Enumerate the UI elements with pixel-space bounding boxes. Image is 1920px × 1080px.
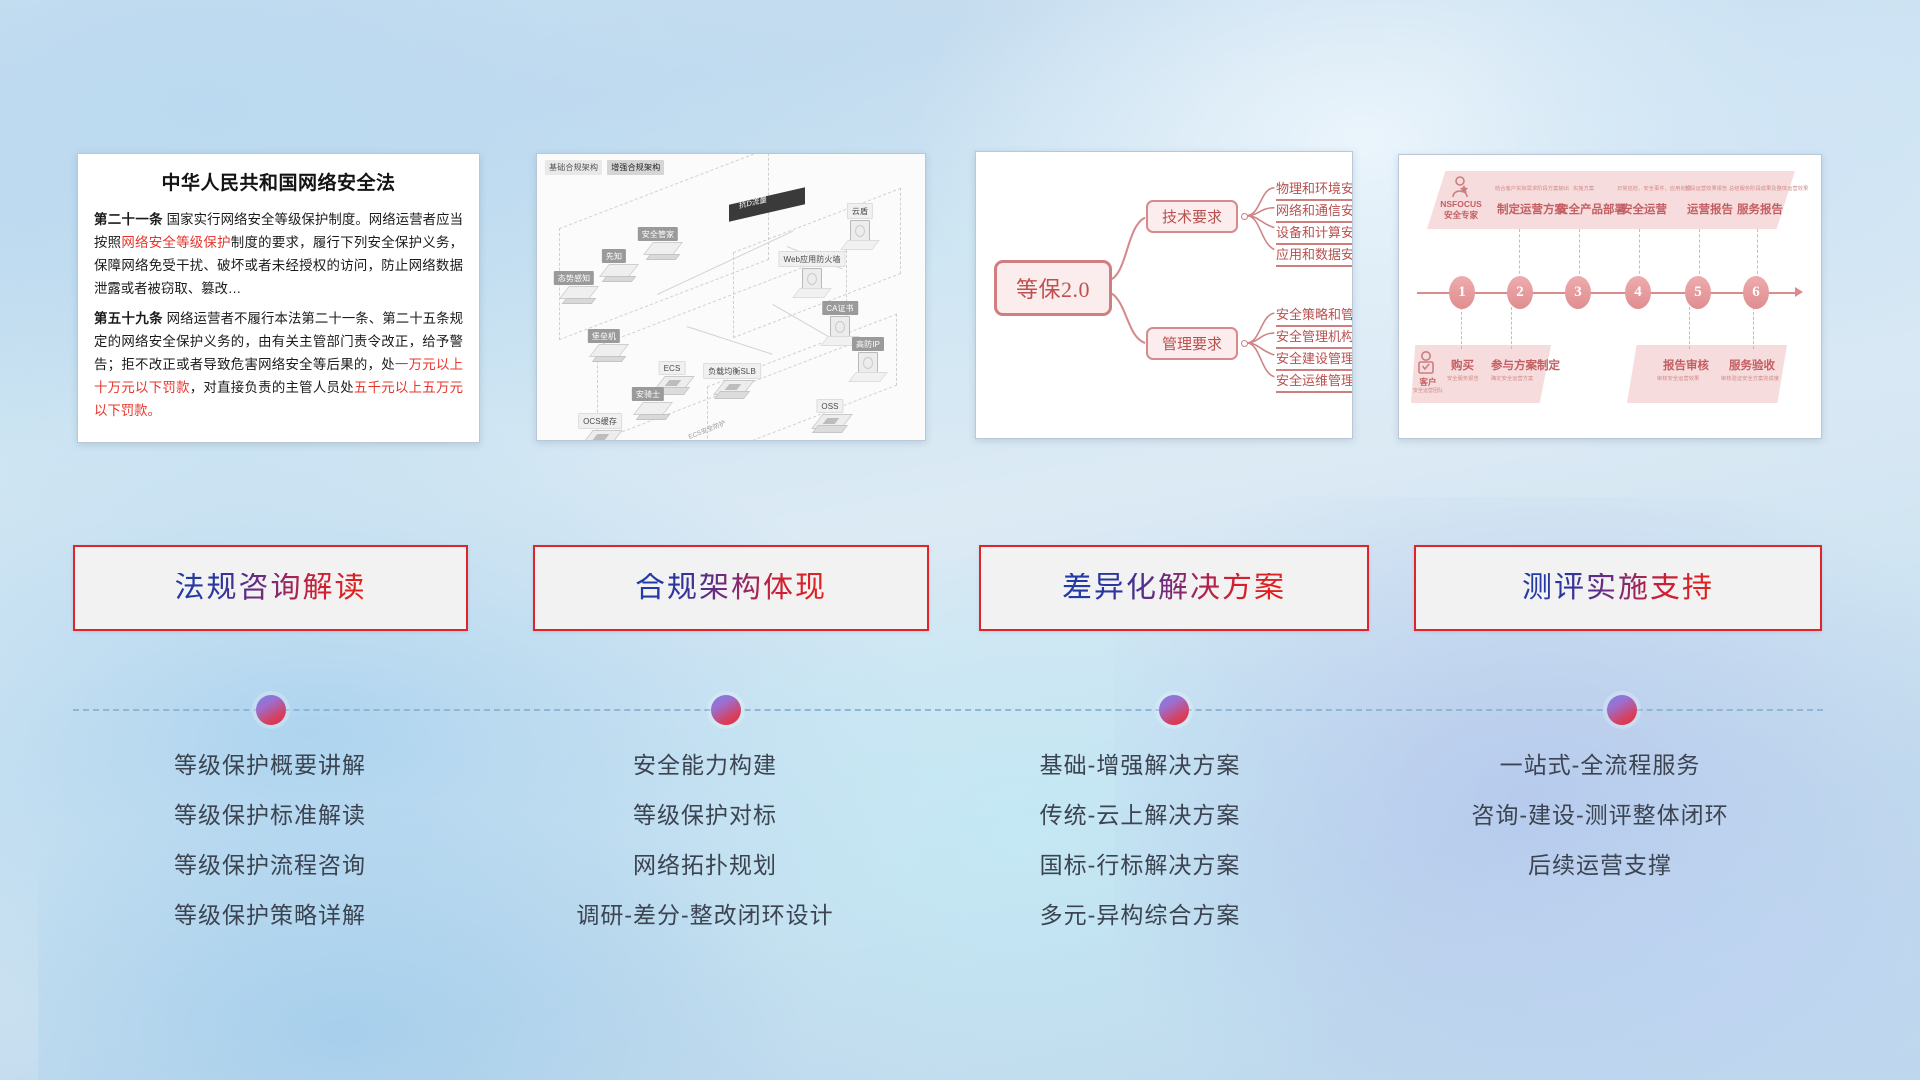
architecture-node-anti-ddos-ip: 高防IP [855, 352, 881, 382]
mindmap-leaf-application: 应用和数据安全 [1276, 244, 1353, 267]
mindmap-root-node: 等保2.0 [994, 260, 1112, 316]
section-title-box-0[interactable]: 法规咨询解读 [73, 545, 468, 631]
timeline-dash-b6 [1753, 307, 1754, 349]
progress-node-1[interactable] [711, 695, 741, 725]
timeline-step-participate-sub: 确定安全运营方案 [1491, 375, 1533, 382]
architecture-node-oss-label: OSS [816, 399, 843, 413]
architecture-node-antiddos: 抗D流量 [729, 196, 805, 213]
timeline-card: NSFOCUS 安全专家 结合客户实际需求阶段方案输出 制定运营方案 实施方案 … [1398, 154, 1822, 439]
architecture-node-cloud-shield-label: 云盾 [847, 203, 873, 219]
timeline-step-participate-title: 参与方案制定 [1491, 357, 1560, 373]
timeline-step-acceptance-title: 服务验收 [1729, 357, 1775, 373]
timeline-step-5-title: 运营报告 [1687, 201, 1733, 217]
architecture-node-ca-cert: CA证书 [827, 316, 853, 346]
mindmap-leaf-org: 安全管理机构和人员 [1276, 326, 1353, 349]
timeline-dash-b1 [1461, 307, 1462, 349]
architecture-node-anqishi-label: 安骑士 [632, 387, 664, 401]
mindmap-branch-management: 管理要求 [1146, 327, 1238, 360]
timeline-step-2-title: 制定运营方案 [1497, 201, 1566, 217]
list-item: 多元-异构综合方案 [925, 890, 1355, 940]
timeline-dash-5 [1699, 229, 1700, 279]
architecture-node-cloud-shield: 云盾 [847, 220, 873, 250]
timeline-step-3-title: 安全产品部署 [1557, 201, 1626, 217]
list-item: 后续运营支撑 [1370, 840, 1830, 890]
architecture-node-ca-cert-label: CA证书 [822, 301, 858, 315]
mindmap-branch-technical: 技术要求 [1146, 200, 1238, 233]
timeline-customer-line1: 客户 [1411, 377, 1445, 388]
progress-node-3[interactable] [1607, 695, 1637, 725]
architecture-node-security-butler: 安全管家 [643, 242, 673, 262]
list-item: 一站式-全流程服务 [1370, 740, 1830, 790]
timeline-step-6-sub: 总结服务阶段成果及整体运营效果 [1729, 185, 1808, 192]
mindmap-leaf-physical: 物理和环境安全 [1276, 178, 1353, 201]
architecture-node-oss: OSS [813, 414, 847, 438]
architecture-node-slb-label: 负载均衡SLB [703, 363, 761, 379]
section-items-0: 等级保护概要讲解 等级保护标准解读 等级保护流程咨询 等级保护策略详解 [55, 740, 485, 940]
architecture-node-bastion-host-label: 堡垒机 [588, 329, 620, 343]
timeline-customer-line2: 安全运营团队 [1411, 388, 1445, 394]
architecture-tab-enhanced[interactable]: 增强合规架构 [607, 160, 664, 175]
architecture-node-slb: 负载均衡SLB [715, 380, 749, 404]
timeline-customer: 客户 安全运营团队 [1411, 377, 1445, 394]
list-item: 安全能力构建 [490, 740, 920, 790]
architecture-tab-basic[interactable]: 基础合规架构 [545, 160, 602, 175]
timeline-brand-line2: 安全专家 [1433, 210, 1489, 221]
customer-person-icon [1417, 351, 1435, 375]
mindmap-leaf-policy: 安全策略和管理制度 [1276, 304, 1353, 327]
list-item: 国标-行标解决方案 [925, 840, 1355, 890]
architecture-node-anti-ddos-ip-label: 高防IP [852, 337, 884, 351]
timeline-step-3-sub: 实施方案 [1573, 185, 1594, 192]
progress-node-2[interactable] [1159, 695, 1189, 725]
list-item: 调研-差分-整改闭环设计 [490, 890, 920, 940]
law-article-21-run-1: 网络安全等级保护 [121, 235, 230, 250]
law-article-59-number: 第五十九条 [94, 311, 163, 326]
section-title-row: 法规咨询解读 合规架构体现 差异化解决方案 测评实施支持 [0, 545, 1920, 655]
list-item: 传统-云上解决方案 [925, 790, 1355, 840]
architecture-node-anqishi: 安骑士 [633, 402, 663, 422]
law-article-59: 第五十九条 网络运营者不履行本法第二十一条、第二十五条规定的网络安全保护义务的，… [94, 307, 463, 422]
section-title-0: 法规咨询解读 [175, 573, 367, 603]
law-card-title: 中华人民共和国网络安全法 [94, 168, 463, 195]
timeline-step-6-title: 服务报告 [1737, 201, 1783, 217]
list-item: 等级保护对标 [490, 790, 920, 840]
section-title-box-1[interactable]: 合规架构体现 [533, 545, 929, 631]
timeline-dash-3 [1579, 229, 1580, 279]
architecture-node-waf: Web应用防火墙 [799, 268, 825, 298]
section-title-2: 差异化解决方案 [1062, 573, 1286, 603]
timeline-brand: NSFOCUS 安全专家 [1433, 199, 1489, 220]
section-title-box-3[interactable]: 测评实施支持 [1414, 545, 1822, 631]
timeline-node-4[interactable]: 4 [1625, 276, 1651, 309]
law-article-21-number: 第二十一条 [94, 212, 163, 227]
architecture-node-bastion-host: 堡垒机 [589, 344, 619, 364]
timeline-step-acceptance-sub: 审核验证安全方案完成度 [1721, 375, 1779, 382]
illustration-card-row: 中华人民共和国网络安全法 第二十一条 国家实行网络安全等级保护制度。网络运营者应… [0, 0, 1920, 440]
law-article-21: 第二十一条 国家实行网络安全等级保护制度。网络运营者应当按照网络安全等级保护制度… [94, 208, 463, 300]
timeline-step-4-title: 安全运营 [1621, 201, 1667, 217]
timeline-node-3[interactable]: 3 [1565, 276, 1591, 309]
list-item: 等级保护概要讲解 [55, 740, 485, 790]
progress-node-0[interactable] [256, 695, 286, 725]
section-title-1: 合规架构体现 [635, 573, 827, 603]
timeline-band-bottom-right [1627, 345, 1787, 403]
section-title-box-2[interactable]: 差异化解决方案 [979, 545, 1369, 631]
architecture-node-ocs-cache: OCS缓存 [583, 430, 617, 441]
section-items-3: 一站式-全流程服务 咨询-建设-测评整体闭环 后续运营支撑 [1370, 740, 1830, 890]
architecture-node-xianzhi: 先知 [599, 264, 629, 284]
timeline-step-review-sub: 审核安全运营效果 [1657, 375, 1699, 382]
mindmap-leaf-device: 设备和计算安全 [1276, 222, 1353, 245]
list-item: 咨询-建设-测评整体闭环 [1370, 790, 1830, 840]
timeline-step-purchase-sub: 安全服务报告 [1447, 375, 1479, 382]
architecture-node-situational-awareness-label: 态势感知 [554, 271, 594, 285]
list-item: 等级保护流程咨询 [55, 840, 485, 890]
timeline-step-review-title: 报告审核 [1663, 357, 1709, 373]
architecture-card: 基础合规架构 增强合规架构 [536, 153, 926, 441]
list-item: 网络拓扑规划 [490, 840, 920, 890]
timeline-node-6[interactable]: 6 [1743, 276, 1769, 309]
architecture-tab-bar: 基础合规架构 增强合规架构 [545, 160, 664, 175]
section-title-3: 测评实施支持 [1522, 573, 1714, 603]
architecture-node-ecs-label: ECS [659, 361, 686, 375]
architecture-node-security-butler-label: 安全管家 [638, 227, 678, 241]
progress-timeline [0, 690, 1920, 730]
mindmap-collapse-dot-management[interactable] [1241, 340, 1248, 347]
architecture-canvas: 抗D流量 安全管家 先知 态势感知 堡垒机 [537, 176, 925, 440]
architecture-node-xianzhi-label: 先知 [602, 249, 626, 263]
timeline-node-5[interactable]: 5 [1685, 276, 1711, 309]
timeline-step-5-sub: 阶段运营效果报告 [1685, 185, 1727, 192]
timeline-dash-4 [1639, 229, 1640, 279]
section-detail-columns: 等级保护概要讲解 等级保护标准解读 等级保护流程咨询 等级保护策略详解 安全能力… [0, 740, 1920, 980]
timeline-node-2[interactable]: 2 [1507, 276, 1533, 309]
mindmap-card: 等保2.0 技术要求 物理和环境安全 网络和通信安全 设备和计算安全 应用和数据… [975, 151, 1353, 439]
architecture-node-situational-awareness: 态势感知 [559, 286, 589, 306]
timeline-step-2-sub: 结合客户实际需求阶段方案输出 [1495, 185, 1569, 192]
timeline-node-1[interactable]: 1 [1449, 276, 1475, 309]
architecture-node-ocs-cache-label: OCS缓存 [578, 413, 622, 429]
mindmap-leaf-construction: 安全建设管理 [1276, 348, 1353, 371]
expert-person-icon [1450, 176, 1470, 198]
timeline-step-4-sub: 日常巡检、安全事件、应用处理 [1617, 185, 1691, 192]
list-item: 等级保护策略详解 [55, 890, 485, 940]
timeline-arrow-icon [1795, 287, 1803, 297]
law-card: 中华人民共和国网络安全法 第二十一条 国家实行网络安全等级保护制度。网络运营者应… [77, 153, 480, 443]
mindmap-leaf-network: 网络和通信安全 [1276, 200, 1353, 223]
law-article-59-run-2: ，对直接负责的主管人员处 [190, 380, 354, 395]
timeline-dash-b2 [1511, 307, 1512, 349]
list-item: 基础-增强解决方案 [925, 740, 1355, 790]
list-item: 等级保护标准解读 [55, 790, 485, 840]
mindmap-leaf-operations: 安全运维管理 [1276, 370, 1353, 393]
timeline-dash-b5 [1689, 307, 1690, 349]
section-items-1: 安全能力构建 等级保护对标 网络拓扑规划 调研-差分-整改闭环设计 [490, 740, 920, 940]
architecture-node-waf-label: Web应用防火墙 [778, 251, 845, 267]
section-items-2: 基础-增强解决方案 传统-云上解决方案 国标-行标解决方案 多元-异构综合方案 [925, 740, 1355, 940]
timeline-dash-6 [1757, 229, 1758, 279]
timeline-dash-2 [1519, 229, 1520, 279]
mindmap-collapse-dot-technical[interactable] [1241, 213, 1248, 220]
progress-timeline-line [73, 709, 1823, 711]
timeline-step-purchase-title: 购买 [1451, 357, 1474, 373]
timeline-brand-line1: NSFOCUS [1433, 199, 1489, 210]
